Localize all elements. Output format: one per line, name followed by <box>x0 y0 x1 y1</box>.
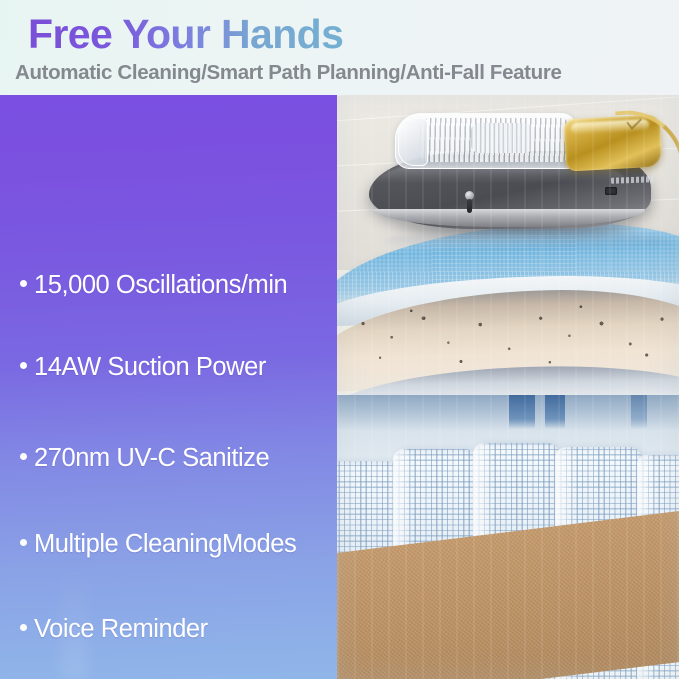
feature-item-voice-reminder: Voice Reminder <box>20 615 337 644</box>
coil-gap-shadow <box>509 395 535 429</box>
product-photo <box>337 95 679 679</box>
feature-label: Multiple CleaningModes <box>34 530 296 559</box>
feature-item-suction-power: 14AW Suction Power <box>20 353 337 382</box>
feature-label: 15,000 Oscillations/min <box>34 271 287 300</box>
bullet-dot-icon <box>20 539 27 546</box>
feature-item-cleaning-modes: Multiple CleaningModes <box>20 530 337 559</box>
bullet-dot-icon <box>20 280 27 287</box>
bullet-dot-icon <box>20 362 27 369</box>
feature-list: 15,000 Oscillations/min 14AW Suction Pow… <box>0 95 337 679</box>
page-subtitle: Automatic Cleaning/Smart Path Planning/A… <box>15 61 562 85</box>
roller-brush <box>471 123 533 153</box>
feature-item-oscillations: 15,000 Oscillations/min <box>20 271 337 300</box>
wall-line <box>337 95 679 102</box>
device-port <box>605 187 617 195</box>
coil-top-shadow <box>337 395 679 431</box>
page-title: Free Your Hands <box>28 13 343 56</box>
feature-label: 14AW Suction Power <box>34 353 266 382</box>
device-button-stem <box>467 199 472 213</box>
feature-label: Voice Reminder <box>34 615 208 644</box>
bullet-dot-icon <box>20 624 27 631</box>
features-panel: 15,000 Oscillations/min 14AW Suction Pow… <box>0 95 337 679</box>
coil-gap-shadow <box>545 395 565 429</box>
feature-item-uv-sanitize: 270nm UV-C Sanitize <box>20 444 337 473</box>
product-feature-banner: Free Your Hands Automatic Cleaning/Smart… <box>0 0 679 679</box>
photo-scene <box>337 95 679 679</box>
dust-cup-cap <box>398 118 428 166</box>
mattress-vacuum-robot <box>359 103 659 229</box>
feature-label: 270nm UV-C Sanitize <box>34 444 269 473</box>
bullet-dot-icon <box>20 453 27 460</box>
header-banner: Free Your Hands Automatic Cleaning/Smart… <box>0 0 679 95</box>
coil-gap-shadow <box>631 395 647 429</box>
